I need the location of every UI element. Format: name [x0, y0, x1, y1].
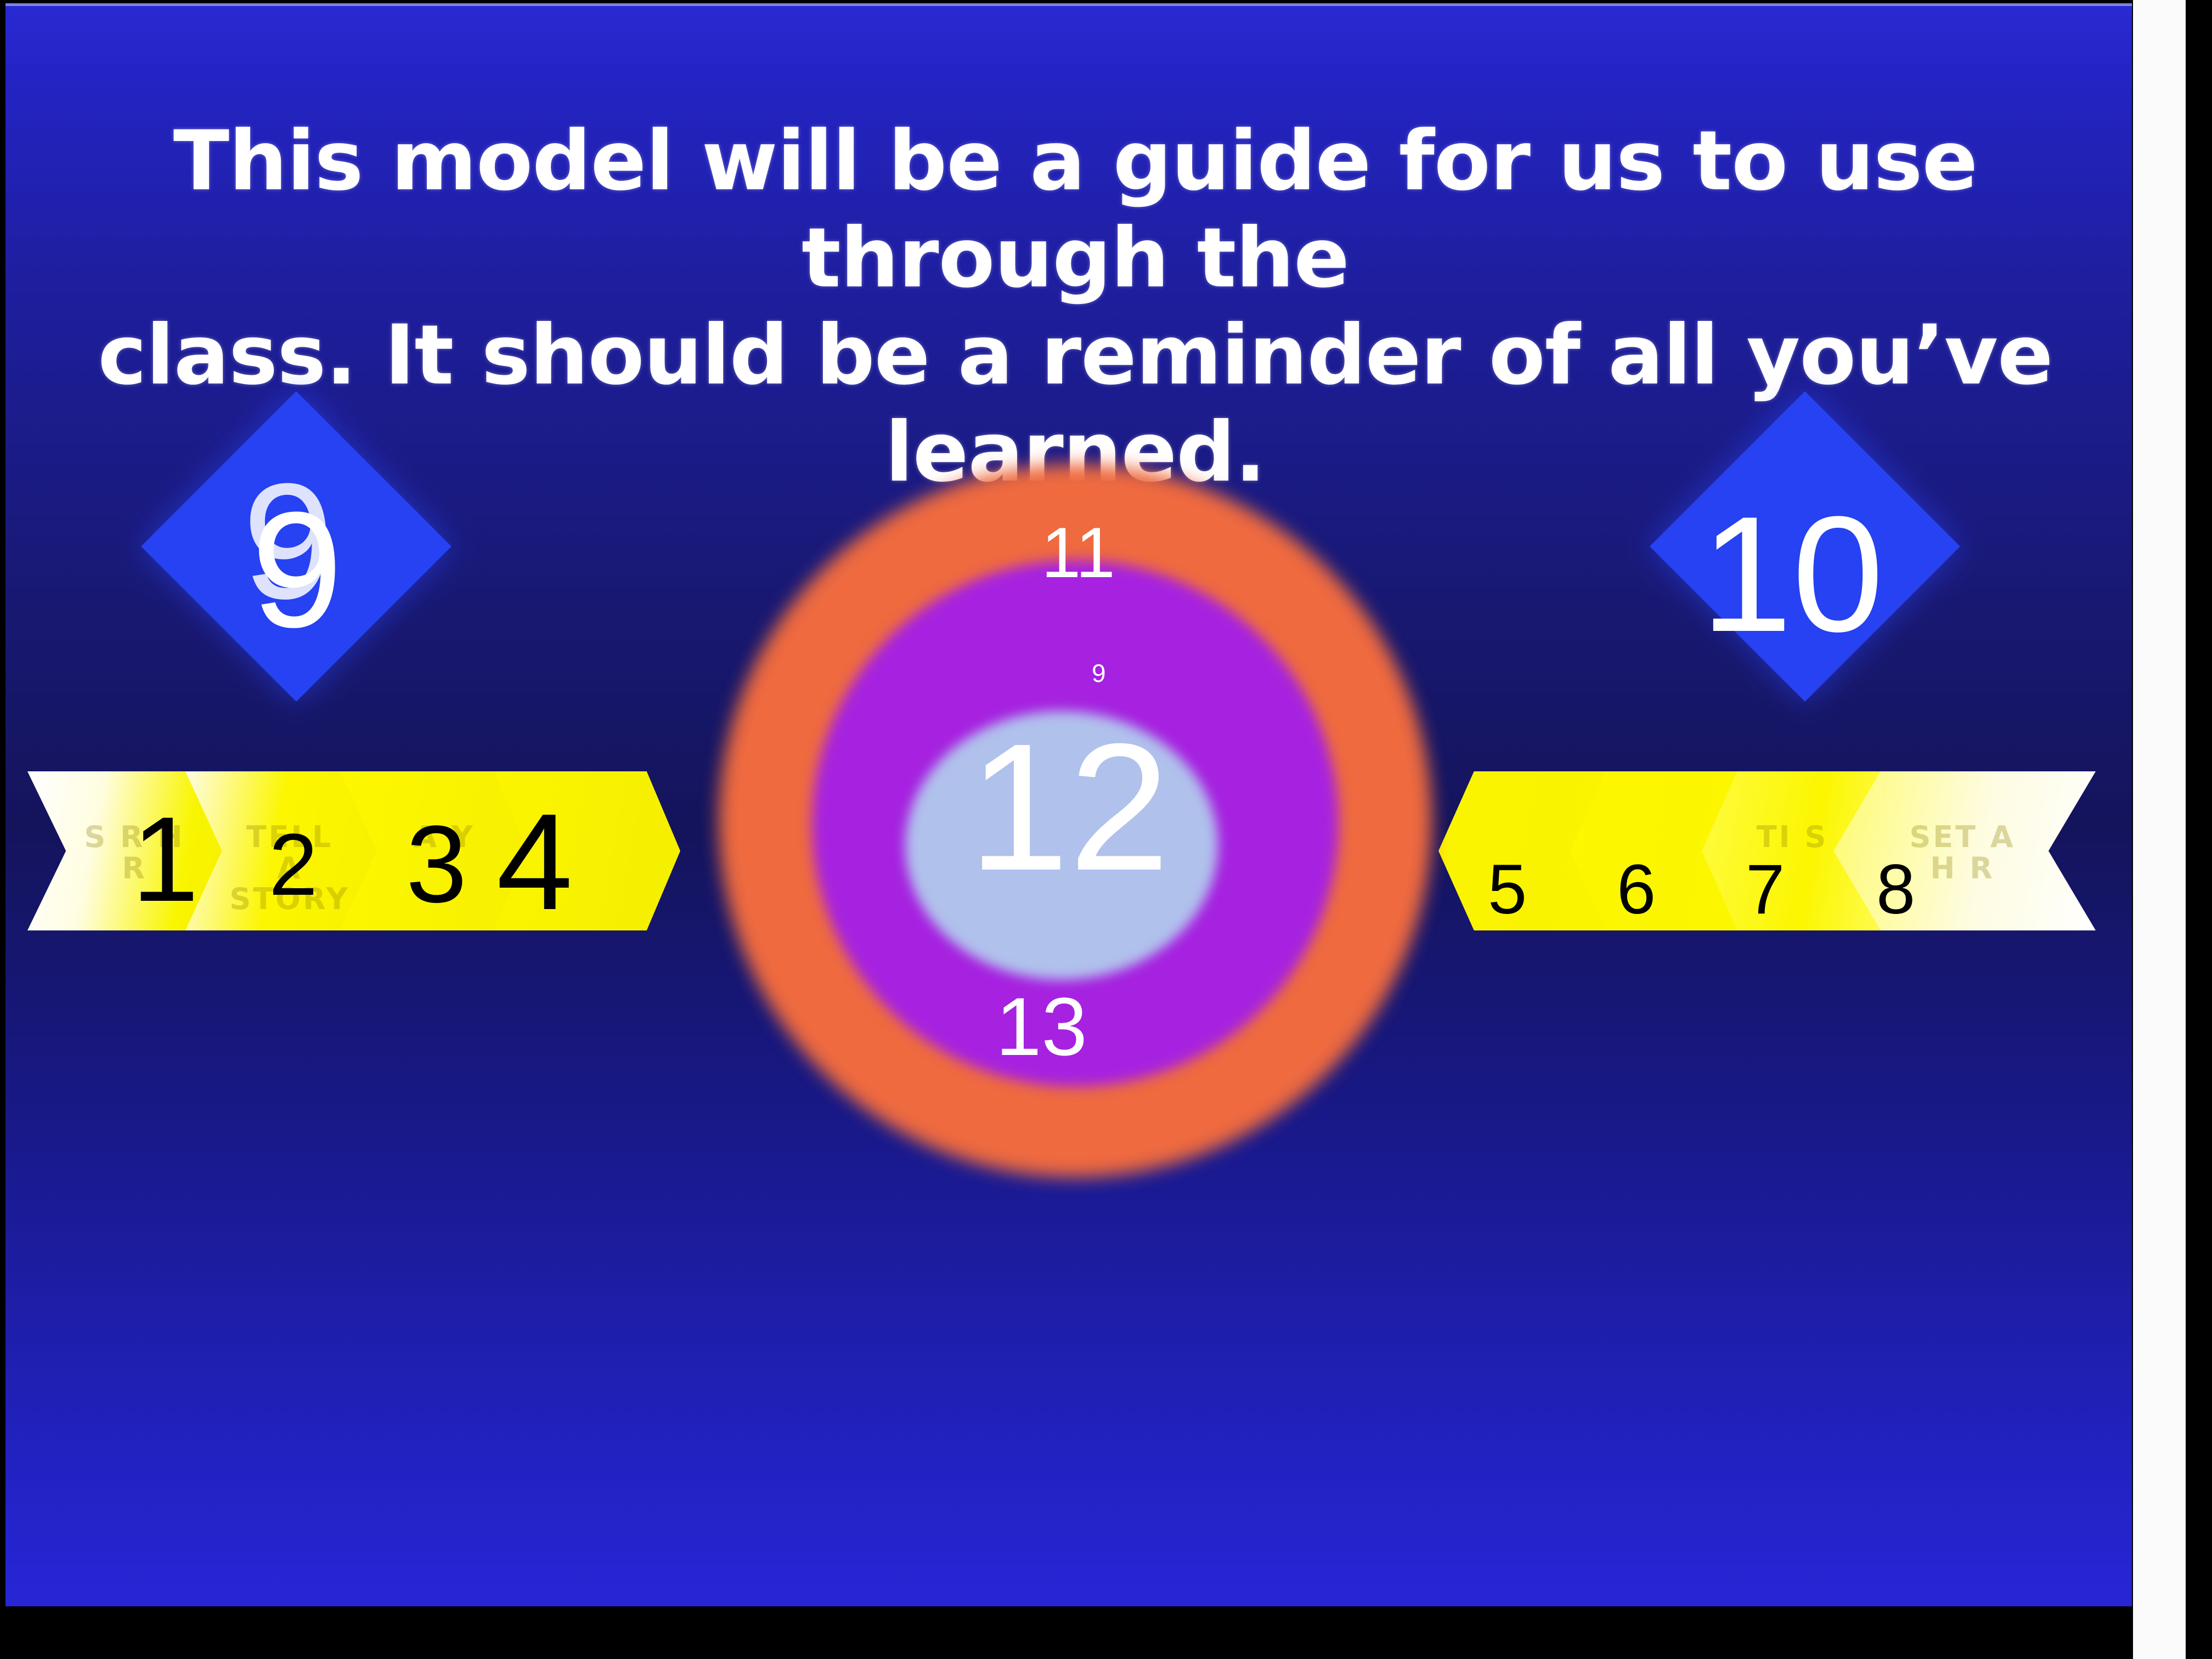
inner-circle-label: 12 [968, 716, 1170, 898]
right-diamond-label: 10 [1701, 492, 1884, 656]
chevron-step-2-number: 2 [269, 821, 318, 909]
chevron-step-7-faint-text: TI S [1735, 822, 1850, 853]
right-white-strip [2133, 0, 2186, 1659]
chevron-step-8-faint-text: SET A H R [1899, 822, 2025, 884]
slide-top-hairline [5, 3, 2132, 6]
right-black-gutter [2186, 0, 2212, 1659]
chevron-step-1-number: 1 [132, 799, 199, 919]
screenshot-stage: This model will be a guide for us to use… [0, 0, 2212, 1659]
middle-circle-small-label: 9 [1092, 661, 1106, 686]
presentation-slide: This model will be a guide for us to use… [5, 3, 2132, 1606]
outer-circle-label: 11 [1041, 517, 1115, 588]
chevron-step-3-number: 3 [406, 810, 467, 919]
chevron-step-6-number: 6 [1617, 855, 1656, 925]
middle-circle-label: 13 [996, 985, 1087, 1068]
chevron-step-5-number: 5 [1488, 855, 1527, 925]
left-diamond-label: 9 [251, 487, 343, 652]
chevron-step-7-number: 7 [1746, 855, 1785, 925]
chevron-step-8-number: 8 [1876, 855, 1915, 925]
left-chevron-group: S R H R 1 TELL A STORY 2 A Y 3 4 [27, 771, 680, 930]
chevron-step-8[interactable]: SET A H R [1833, 771, 2096, 930]
chevron-step-4-number: 4 [496, 793, 573, 930]
right-chevron-group: 5 6 TI S 7 SET A H R 8 [1438, 771, 2096, 930]
